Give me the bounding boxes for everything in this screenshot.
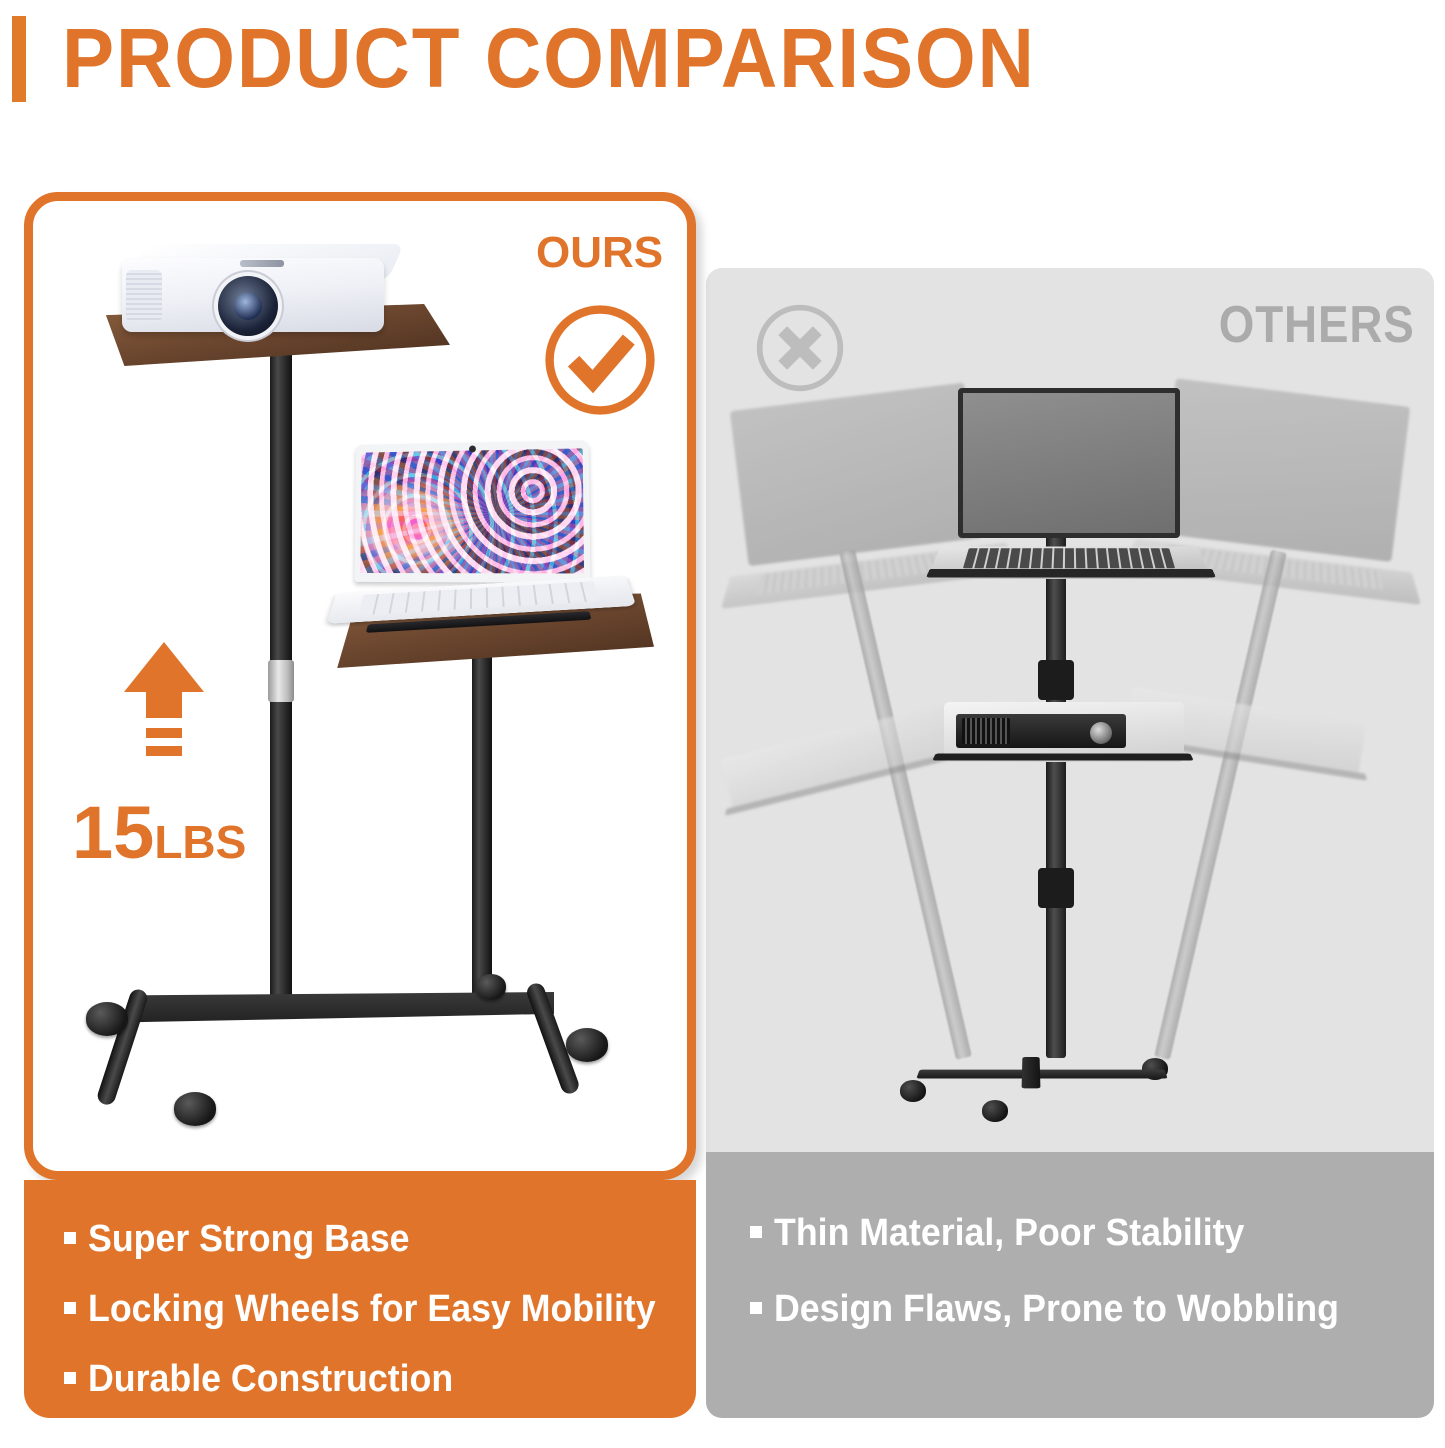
laptop-webcam <box>469 445 476 452</box>
bullet-icon <box>750 1302 762 1314</box>
projector-vent-ridges <box>126 270 162 322</box>
weight-capacity-text: 15LBS <box>72 790 246 875</box>
ours-caster-wheel <box>86 1002 128 1036</box>
list-item: Design Flaws, Prone to Wobbling <box>750 1284 1418 1334</box>
ours-projector <box>122 244 402 336</box>
others-projector-lens <box>1090 722 1112 744</box>
page-title: PRODUCT COMPARISON <box>62 6 1036 110</box>
check-circle-icon <box>540 300 660 420</box>
others-footer: Thin Material, Poor Stability Design Fla… <box>706 1152 1434 1418</box>
ours-caster-wheel <box>476 974 506 1000</box>
bullet-icon <box>64 1372 76 1384</box>
others-laptop <box>934 388 1204 598</box>
laptop-wallpaper-overlay <box>360 448 584 573</box>
ours-footer: Super Strong Base Locking Wheels for Eas… <box>24 1180 696 1418</box>
ours-height-adjust-collar <box>268 660 294 702</box>
projector-lens <box>234 292 262 320</box>
ours-second-pole <box>472 652 492 1012</box>
others-pole-clamp-lower <box>1038 868 1074 908</box>
others-label: OTHERS <box>1219 295 1415 355</box>
ours-caster-wheel <box>174 1092 216 1126</box>
weight-unit: LBS <box>154 816 246 868</box>
ours-laptop <box>330 442 630 632</box>
bullet-icon <box>64 1302 76 1314</box>
list-item: Locking Wheels for Easy Mobility <box>64 1284 680 1334</box>
page-header: PRODUCT COMPARISON <box>0 0 1445 120</box>
others-laptop-keyboard <box>963 548 1175 568</box>
others-laptop-tray <box>926 569 1216 577</box>
others-projector-vent <box>962 718 1010 744</box>
ours-feature-text: Durable Construction <box>88 1354 453 1404</box>
others-base <box>918 1038 1166 1108</box>
list-item: Thin Material, Poor Stability <box>750 1208 1418 1258</box>
list-item: Super Strong Base <box>64 1214 680 1264</box>
others-projector <box>944 692 1194 770</box>
others-product-illustration <box>706 268 1434 1230</box>
list-item: Durable Construction <box>64 1354 680 1404</box>
x-circle-icon <box>752 300 848 396</box>
others-feature-list: Thin Material, Poor Stability Design Fla… <box>750 1208 1418 1360</box>
ours-feature-text: Super Strong Base <box>88 1214 410 1264</box>
title-accent-bar <box>12 16 26 102</box>
others-feature-text: Design Flaws, Prone to Wobbling <box>774 1284 1339 1334</box>
ghost-pole-right <box>1154 550 1287 1060</box>
ours-feature-list: Super Strong Base Locking Wheels for Eas… <box>64 1214 680 1424</box>
others-base-crossbar <box>1022 1057 1041 1088</box>
ours-feature-text: Locking Wheels for Easy Mobility <box>88 1284 656 1334</box>
ours-label: OURS <box>536 228 663 278</box>
weight-value: 15 <box>72 791 154 874</box>
others-base-bar <box>916 1070 1167 1079</box>
others-feature-text: Thin Material, Poor Stability <box>774 1208 1244 1258</box>
bullet-icon <box>64 1232 76 1244</box>
projector-top-slot <box>240 260 284 267</box>
laptop-screen <box>354 440 590 583</box>
bullet-icon <box>750 1226 762 1238</box>
others-projector-tray <box>932 754 1193 761</box>
up-arrow-icon <box>122 640 206 760</box>
others-laptop-screen <box>958 388 1180 538</box>
ours-caster-wheel <box>566 1028 608 1062</box>
others-pole-clamp-upper <box>1038 660 1074 700</box>
